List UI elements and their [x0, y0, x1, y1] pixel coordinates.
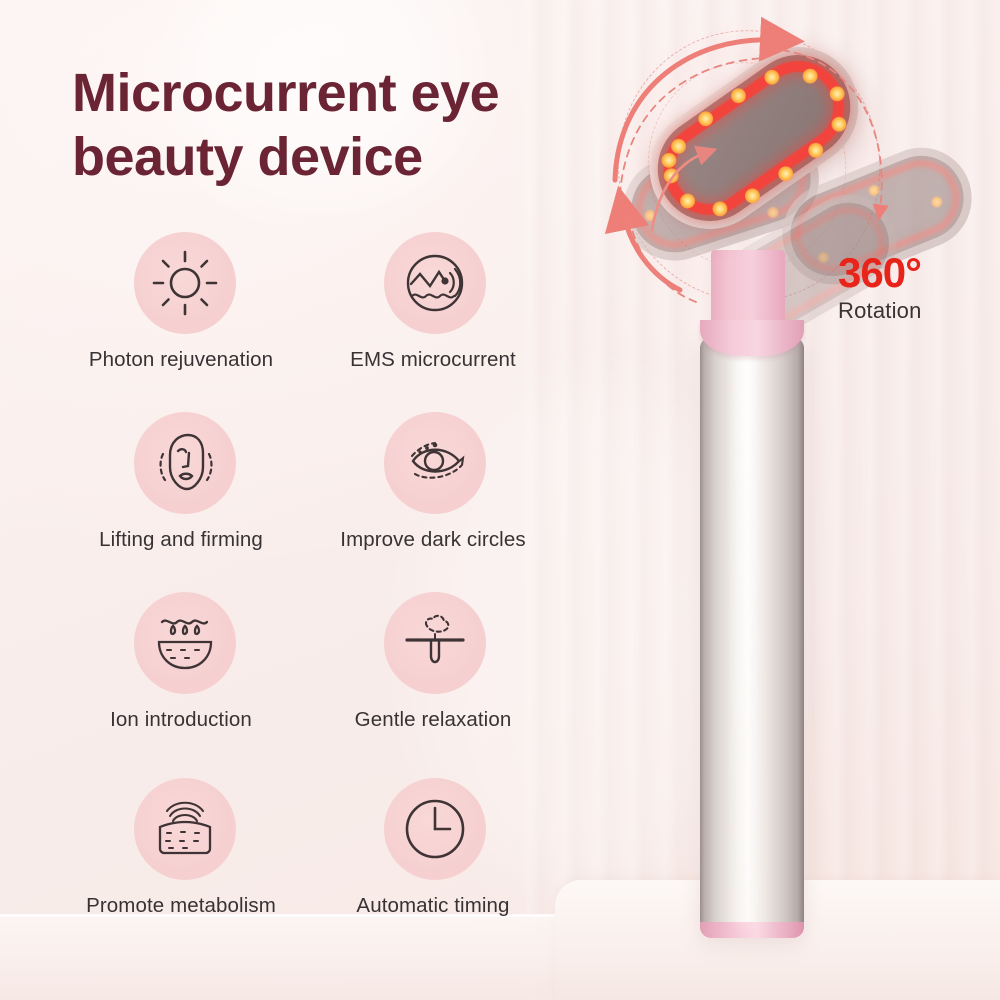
- arrow-mid: [652, 153, 705, 230]
- feature-item-ems-microcurrent[interactable]: EMS microcurrent: [310, 232, 560, 412]
- feature-row-2: Lifting and firming Improve dark: [60, 412, 560, 592]
- rotation-badge: 360° Rotation: [838, 252, 922, 325]
- hair-follicle-icon: [384, 592, 486, 694]
- arrow-bottom-left: [624, 215, 680, 290]
- led-dot: [728, 85, 749, 106]
- arrow-top-dashed: [620, 58, 765, 195]
- rotation-caption: Rotation: [838, 297, 922, 325]
- feature-item-lifting-and-firming[interactable]: Lifting and firming: [60, 412, 310, 592]
- device-neck: [711, 250, 785, 346]
- feature-item-gentle-relaxation[interactable]: Gentle relaxation: [310, 592, 560, 778]
- feature-item-improve-dark-circles[interactable]: Improve dark circles: [310, 412, 560, 592]
- ion-bowl-icon: [134, 592, 236, 694]
- wave-signal-icon: [384, 232, 486, 334]
- handle-highlight: [736, 348, 754, 928]
- led-dot: [695, 108, 716, 129]
- led-dot: [668, 136, 689, 157]
- device-collar: [700, 320, 804, 356]
- feature-label: EMS microcurrent: [350, 348, 516, 372]
- feature-item-promote-metabolism[interactable]: Promote metabolism: [60, 778, 310, 958]
- feature-item-ion-introduction[interactable]: Ion introduction: [60, 592, 310, 778]
- face-lift-icon: [134, 412, 236, 514]
- led-ring: [646, 43, 863, 233]
- rotation-degrees: 360°: [838, 252, 922, 294]
- led-dot: [761, 67, 782, 88]
- led-dot: [742, 185, 763, 206]
- led-dot: [661, 165, 682, 186]
- device-head: [626, 23, 882, 252]
- feature-list: Photon rejuvenation EMS microcurrent: [60, 232, 560, 958]
- led-dot: [710, 198, 731, 219]
- product-banner: Microcurrent eye beauty device: [0, 0, 1000, 1000]
- arrow-top: [615, 40, 775, 180]
- clock-icon: [384, 778, 486, 880]
- feature-label: Ion introduction: [110, 708, 252, 732]
- led-dot: [658, 150, 679, 171]
- arrow-right-dashed: [782, 50, 882, 210]
- led-dot: [805, 140, 826, 161]
- feature-label: Gentle relaxation: [355, 708, 512, 732]
- arrow-bottom-dashed: [630, 222, 696, 302]
- led-dot: [827, 83, 848, 104]
- rotation-path-inner: [629, 44, 866, 289]
- head-afterimage-left: [610, 114, 833, 274]
- device-handle: [700, 338, 804, 938]
- feature-row-3: Ion introduction Gentle relaxation: [60, 592, 560, 778]
- led-dot: [677, 191, 698, 212]
- feature-label: Lifting and firming: [99, 528, 263, 552]
- product-pedestal: [555, 880, 1000, 1000]
- feature-item-automatic-timing[interactable]: Automatic timing: [310, 778, 560, 958]
- eye-icon: [384, 412, 486, 514]
- feature-label: Photon rejuvenation: [89, 348, 273, 372]
- head-treatment-face: [637, 35, 870, 242]
- feature-label: Automatic timing: [356, 894, 509, 918]
- page-title: Microcurrent eye beauty device: [72, 62, 632, 189]
- head-shell: [626, 23, 882, 252]
- feature-label: Promote metabolism: [86, 894, 276, 918]
- feature-row-4: Promote metabolism Automatic timing: [60, 778, 560, 958]
- feature-row-1: Photon rejuvenation EMS microcurrent: [60, 232, 560, 412]
- skin-layers-icon: [134, 778, 236, 880]
- led-dot: [800, 66, 821, 87]
- feature-item-photon-rejuvenation[interactable]: Photon rejuvenation: [60, 232, 310, 412]
- led-dot: [775, 163, 796, 184]
- led-dot: [829, 114, 850, 135]
- feature-label: Improve dark circles: [340, 528, 525, 552]
- sun-icon: [134, 232, 236, 334]
